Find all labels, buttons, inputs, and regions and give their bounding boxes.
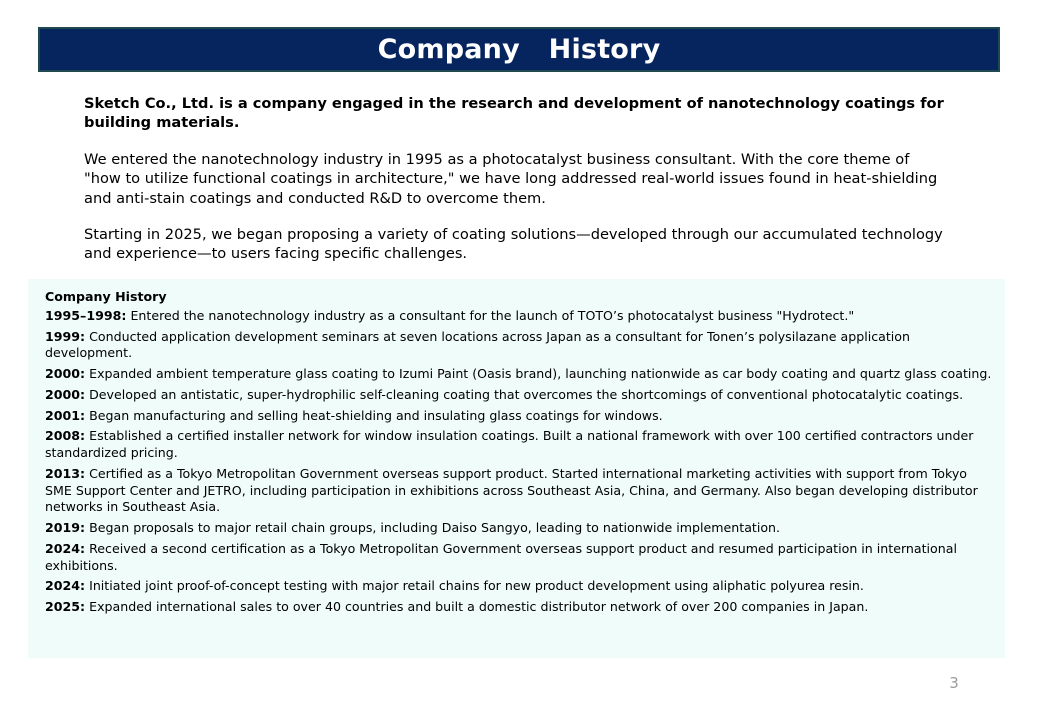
history-item-year: 2001: — [45, 408, 85, 423]
history-item: 2024: Received a second certification as… — [45, 541, 993, 574]
slide-canvas: Company History Sketch Co., Ltd. is a co… — [0, 0, 1040, 720]
history-item-description: Expanded international sales to over 40 … — [89, 599, 868, 614]
history-item-year: 2000: — [45, 366, 85, 381]
intro-section: Sketch Co., Ltd. is a company engaged in… — [84, 94, 946, 281]
history-item-description: Initiated joint proof-of-concept testing… — [89, 578, 864, 593]
history-item: 2000: Expanded ambient temperature glass… — [45, 366, 993, 383]
history-item-year: 2019: — [45, 520, 85, 535]
history-item-year: 2008: — [45, 428, 85, 443]
history-item-description: Began proposals to major retail chain gr… — [89, 520, 780, 535]
slide-title-banner: Company History — [38, 27, 1000, 72]
history-item: 1995–1998: Entered the nanotechnology in… — [45, 308, 993, 325]
page-title: Company History — [378, 36, 661, 63]
history-item-description: Began manufacturing and selling heat-shi… — [89, 408, 663, 423]
history-heading: Company History — [45, 288, 993, 305]
history-item-year: 1999: — [45, 329, 85, 344]
history-item: 2024: Initiated joint proof-of-concept t… — [45, 578, 993, 595]
history-item: 2019: Began proposals to major retail ch… — [45, 520, 993, 537]
history-item-description: Expanded ambient temperature glass coati… — [89, 366, 991, 381]
intro-lead-paragraph: Sketch Co., Ltd. is a company engaged in… — [84, 94, 946, 133]
page-number: 3 — [942, 676, 966, 691]
history-item-year: 2024: — [45, 578, 85, 593]
company-history-box: Company History 1995–1998: Entered the n… — [28, 279, 1005, 658]
history-item-description: Developed an antistatic, super-hydrophil… — [89, 387, 963, 402]
history-item-description: Entered the nanotechnology industry as a… — [130, 308, 854, 323]
history-item-year: 2013: — [45, 466, 85, 481]
intro-paragraph-3: Starting in 2025, we began proposing a v… — [84, 225, 946, 264]
history-item-description: Conducted application development semina… — [45, 329, 910, 361]
history-item: 2013: Certified as a Tokyo Metropolitan … — [45, 466, 993, 516]
history-item: 2025: Expanded international sales to ov… — [45, 599, 993, 616]
history-item: 2001: Began manufacturing and selling he… — [45, 408, 993, 425]
intro-paragraph-2: We entered the nanotechnology industry i… — [84, 150, 946, 208]
history-item-year: 2000: — [45, 387, 85, 402]
history-item-year: 2025: — [45, 599, 85, 614]
history-item: 2008: Established a certified installer … — [45, 428, 993, 461]
history-item-year: 2024: — [45, 541, 85, 556]
history-item: 2000: Developed an antistatic, super-hyd… — [45, 387, 993, 404]
history-item: 1999: Conducted application development … — [45, 329, 993, 362]
history-list: 1995–1998: Entered the nanotechnology in… — [45, 308, 993, 616]
history-item-description: Received a second certification as a Tok… — [45, 541, 957, 573]
history-item-year: 1995–1998: — [45, 308, 126, 323]
history-item-description: Established a certified installer networ… — [45, 428, 973, 460]
history-item-description: Certified as a Tokyo Metropolitan Govern… — [45, 466, 978, 514]
